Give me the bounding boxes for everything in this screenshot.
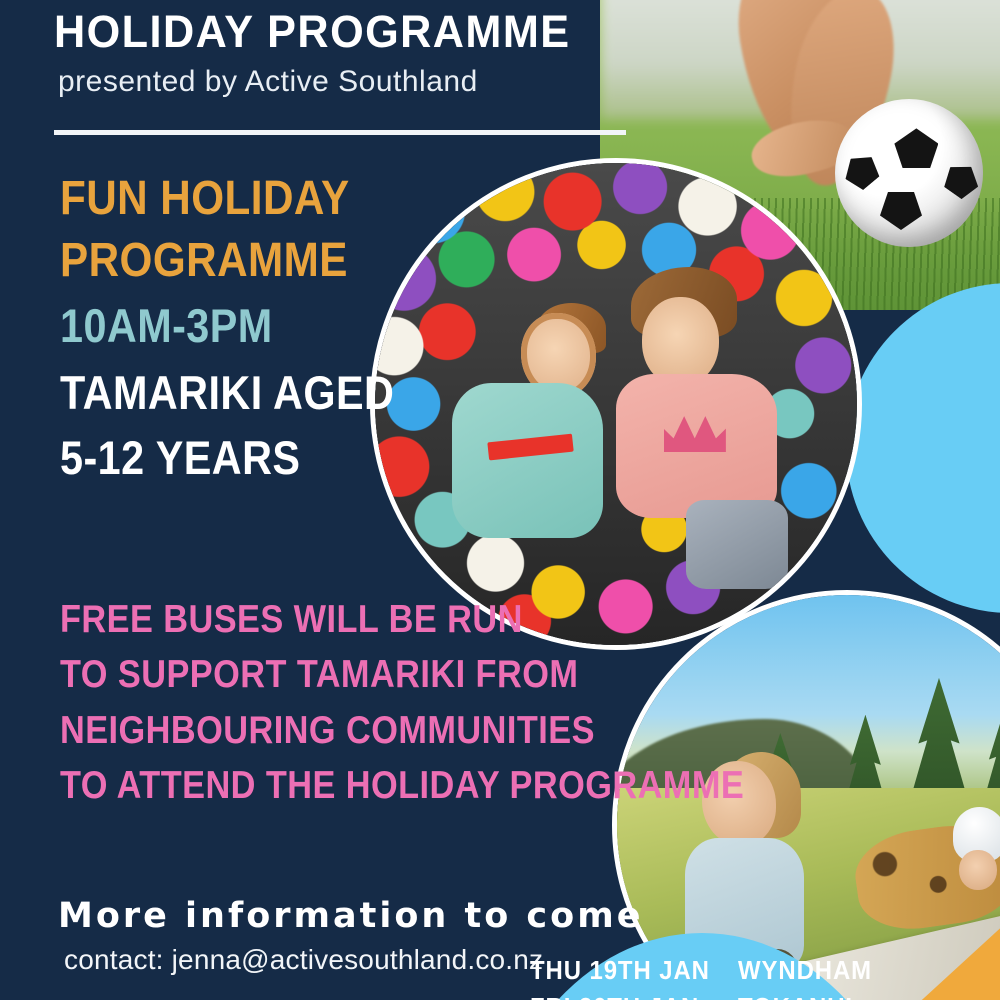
header-divider — [54, 130, 626, 135]
soccer-ball-icon — [835, 99, 983, 247]
decorative-blue-circle-right — [846, 283, 1000, 613]
schedule-location: WYNDHAM — [738, 955, 872, 986]
poster-canvas: HOLIDAY PROGRAMME presented by Active So… — [0, 0, 1000, 1000]
hill-photo-child-back — [856, 807, 1000, 927]
ball-pit-child-right — [616, 279, 799, 578]
headline-line-1: FUN HOLIDAY — [60, 168, 518, 230]
schedule-date: THU 19TH JAN — [530, 955, 707, 986]
schedule-date: FRI 20TH JAN — [530, 992, 707, 1000]
page-title: HOLIDAY PROGRAMME — [54, 8, 630, 55]
more-information-text: More information to come — [58, 896, 643, 936]
page-subtitle: presented by Active Southland — [58, 65, 654, 99]
bus-info-line: TO ATTEND THE HOLIDAY PROGRAMME — [60, 758, 606, 813]
poster-header: HOLIDAY PROGRAMME presented by Active So… — [54, 8, 654, 99]
bus-info-line: TO SUPPORT TAMARIKI FROM — [60, 647, 606, 702]
schedule-location: TOKANUI — [738, 992, 872, 1000]
bus-info-line: NEIGHBOURING COMMUNITIES — [60, 703, 606, 758]
headline-line-2: PROGRAMME — [60, 230, 518, 292]
bus-info-line: FREE BUSES WILL BE RUN — [60, 592, 606, 647]
age-range-line-2: 5-12 YEARS — [60, 425, 518, 491]
programme-times: 10AM-3PM — [60, 293, 518, 360]
main-details: FUN HOLIDAY PROGRAMME 10AM-3PM TAMARIKI … — [60, 168, 580, 491]
schedule-list: THU 19TH JAN WYNDHAM FRI 20TH JAN TOKANU… — [530, 955, 884, 1000]
age-range-line-1: TAMARIKI AGED — [60, 360, 518, 426]
bus-information: FREE BUSES WILL BE RUN TO SUPPORT TAMARI… — [60, 592, 680, 814]
